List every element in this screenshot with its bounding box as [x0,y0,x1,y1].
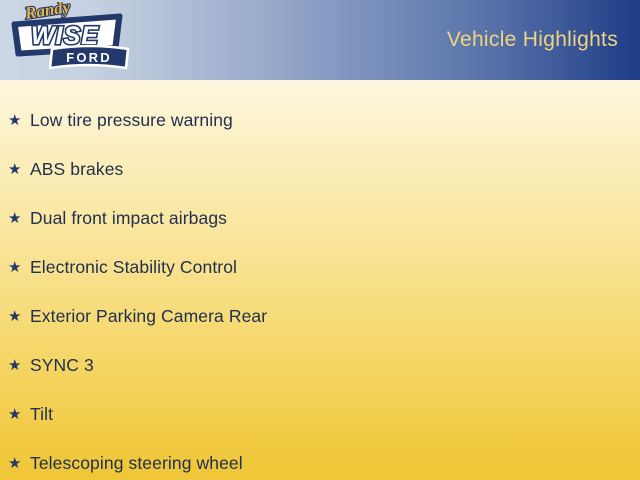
list-item-label: ABS brakes [30,159,123,180]
svg-text:FORD: FORD [66,50,112,65]
star-bullet-icon: ★ [8,113,30,128]
list-item: ★ Telescoping steering wheel [0,439,640,480]
list-item: ★ SYNC 3 [0,341,640,390]
vehicle-highlights-list: ★ Low tire pressure warning ★ ABS brakes… [0,80,640,480]
star-bullet-icon: ★ [8,309,30,324]
list-item-label: Tilt [30,404,53,425]
list-item: ★ Exterior Parking Camera Rear [0,292,640,341]
list-item: ★ Electronic Stability Control [0,243,640,292]
list-item-label: Telescoping steering wheel [30,453,243,474]
list-item: ★ Low tire pressure warning [0,96,640,145]
star-bullet-icon: ★ [8,162,30,177]
star-bullet-icon: ★ [8,260,30,275]
page-title: Vehicle Highlights [447,28,618,52]
list-item-label: Electronic Stability Control [30,257,237,278]
page-header: WISE Randy FORD Vehicle Highlights [0,0,640,80]
vehicle-highlights-page: WISE Randy FORD Vehicle Highlights ★ Low… [0,0,640,480]
list-item-label: Exterior Parking Camera Rear [30,306,267,327]
star-bullet-icon: ★ [8,358,30,373]
list-item-label: Low tire pressure warning [30,110,233,131]
randy-wise-ford-logo: WISE Randy FORD [8,2,132,78]
star-bullet-icon: ★ [8,407,30,422]
list-item-label: Dual front impact airbags [30,208,227,229]
star-bullet-icon: ★ [8,456,30,471]
list-item: ★ Tilt [0,390,640,439]
list-item: ★ ABS brakes [0,145,640,194]
star-bullet-icon: ★ [8,211,30,226]
list-item-label: SYNC 3 [30,355,94,376]
list-item: ★ Dual front impact airbags [0,194,640,243]
